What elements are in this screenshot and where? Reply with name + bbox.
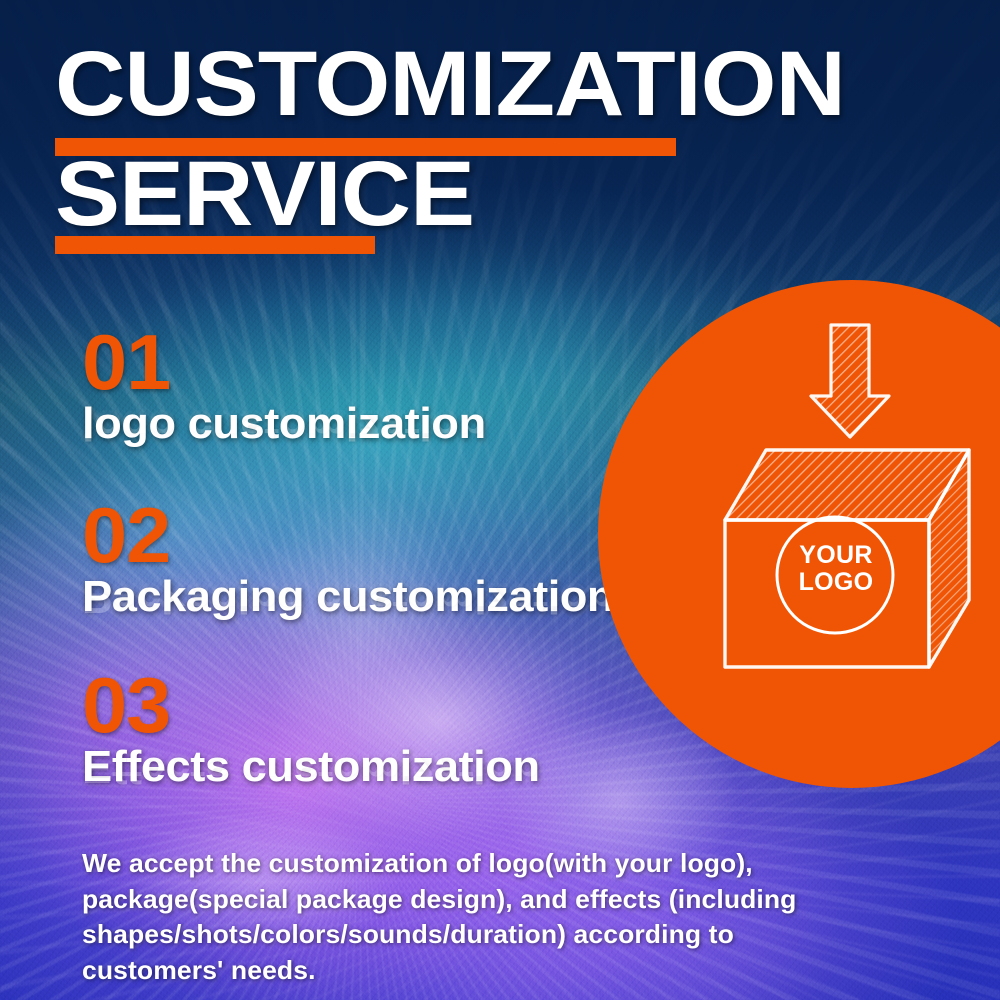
banner-content: CUSTOMIZATION SERVICE 01 logo customizat… [0,0,1000,1000]
service-label-01-reflection: logo customization [82,402,486,446]
box-top-face [725,450,969,520]
logo-placeholder-line-2: LOGO [799,568,874,596]
customization-service-banner: CUSTOMIZATION SERVICE 01 logo customizat… [0,0,1000,1000]
service-label-03: Effects customizationEffects customizati… [82,745,540,789]
logo-placeholder-text: YOUR LOGO [781,542,891,596]
service-item-01: 01 logo customizationlogo customization [82,330,474,446]
service-label-02: Packaging customizationPackaging customi… [82,575,614,619]
service-number-02: 02 [82,503,619,569]
title-underline-bar-2 [55,236,375,254]
logo-placeholder-line-1: YOUR [799,541,872,569]
description-paragraph: We accept the customization of logo(with… [82,846,878,988]
page-title-line-2: SERVICE [55,152,474,237]
service-label-02-reflection: Packaging customization [82,575,614,619]
service-item-02: 02 Packaging customizationPackaging cust… [82,503,599,619]
banner-title-line-2-wrapper: SERVICE [55,152,450,237]
down-arrow-icon [811,325,889,437]
service-label-01: logo customizationlogo customization [82,402,486,446]
service-label-03-reflection: Effects customization [82,745,540,789]
service-item-03: 03 Effects customizationEffects customiz… [82,673,526,789]
banner-title-block: CUSTOMIZATION SERVICE [55,42,755,127]
service-number-01: 01 [82,330,490,396]
service-number-03: 03 [82,673,544,739]
package-box-illustration [598,280,1000,788]
page-title-line-1: CUSTOMIZATION [55,42,797,127]
